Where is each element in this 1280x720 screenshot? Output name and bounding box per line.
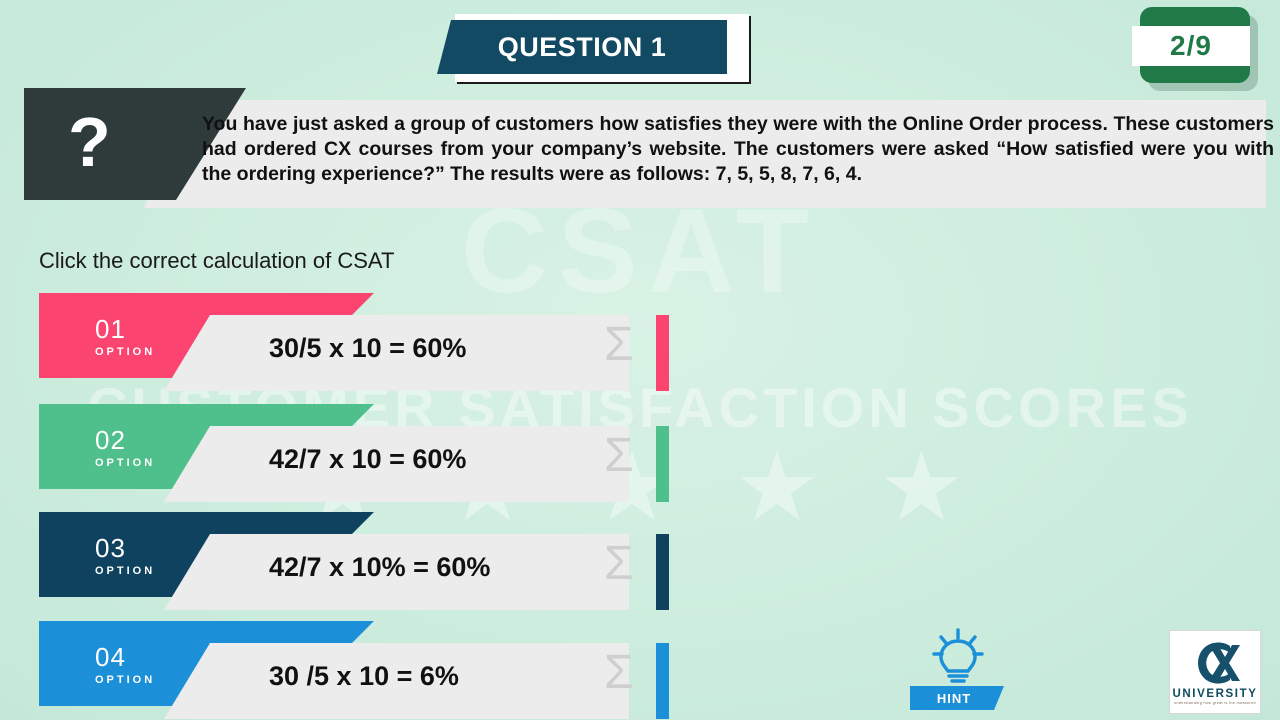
hint-banner[interactable]: HINT bbox=[910, 686, 1004, 710]
question-text: You have just asked a group of customers… bbox=[202, 112, 1274, 187]
logo-tagline: understanding how great is the measured bbox=[1174, 701, 1256, 705]
sigma-icon-02: Σ bbox=[604, 432, 634, 480]
sigma-icon-03: Σ bbox=[604, 540, 634, 588]
option-sublabel-01: OPTION bbox=[95, 346, 155, 358]
option-accent-bar-02 bbox=[656, 426, 669, 502]
question-title-text: QUESTION 1 bbox=[437, 20, 727, 74]
logo-wordmark: UNIVERSITY bbox=[1172, 688, 1257, 700]
page-counter-text: 2/9 bbox=[1170, 30, 1212, 62]
question-mark-glyph: ? bbox=[68, 107, 111, 177]
option-number-03: 03 bbox=[95, 533, 126, 564]
page-counter: 2/9 bbox=[1140, 7, 1258, 91]
answer-option-04[interactable]: 04 OPTION 30 /5 x 10 = 6% Σ bbox=[39, 621, 639, 709]
option-sublabel-02: OPTION bbox=[95, 457, 155, 469]
option-answer-03: 42/7 x 10% = 60% bbox=[269, 552, 490, 583]
option-number-04: 04 bbox=[95, 642, 126, 673]
option-answer-04: 30 /5 x 10 = 6% bbox=[269, 661, 459, 692]
question-panel: ? You have just asked a group of custome… bbox=[24, 88, 1266, 214]
option-accent-bar-04 bbox=[656, 643, 669, 719]
option-sublabel-04: OPTION bbox=[95, 674, 155, 686]
hint-button[interactable]: HINT bbox=[910, 628, 1004, 716]
answer-option-01[interactable]: 01 OPTION 30/5 x 10 = 60% Σ bbox=[39, 293, 639, 381]
option-sublabel-03: OPTION bbox=[95, 565, 155, 577]
question-title-banner: QUESTION 1 bbox=[437, 14, 749, 82]
option-number-02: 02 bbox=[95, 425, 126, 456]
prompt-text: Click the correct calculation of CSAT bbox=[39, 248, 394, 274]
option-accent-bar-01 bbox=[656, 315, 669, 391]
hint-label: HINT bbox=[937, 691, 971, 706]
sigma-icon-01: Σ bbox=[604, 321, 634, 369]
option-answer-02: 42/7 x 10 = 60% bbox=[269, 444, 466, 475]
cx-university-logo: UNIVERSITY understanding how great is th… bbox=[1169, 630, 1261, 714]
sigma-icon-04: Σ bbox=[604, 649, 634, 697]
answer-option-03[interactable]: 03 OPTION 42/7 x 10% = 60% Σ bbox=[39, 512, 639, 600]
option-number-01: 01 bbox=[95, 314, 126, 345]
lightbulb-icon bbox=[930, 628, 986, 686]
option-accent-bar-03 bbox=[656, 534, 669, 610]
page-counter-band: 2/9 bbox=[1132, 26, 1250, 66]
cx-monogram-icon bbox=[1189, 640, 1241, 686]
answer-option-02[interactable]: 02 OPTION 42/7 x 10 = 60% Σ bbox=[39, 404, 639, 492]
option-answer-01: 30/5 x 10 = 60% bbox=[269, 333, 466, 364]
